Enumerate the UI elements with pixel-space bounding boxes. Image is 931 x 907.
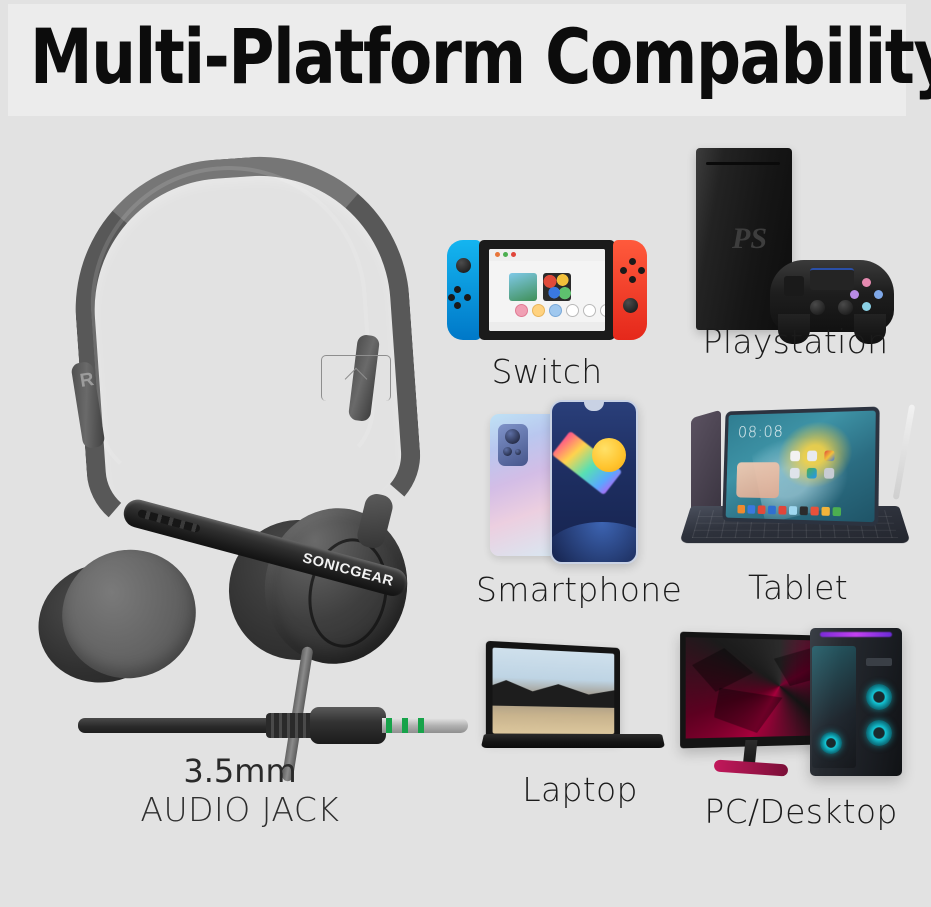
- laptop-screen: [493, 648, 615, 734]
- camera-lens-macro: [515, 449, 521, 455]
- tablet-app-icon-3: [824, 450, 834, 461]
- switch-right-stick: [623, 298, 638, 313]
- device-label-laptop: Laptop: [472, 770, 688, 809]
- tablet-app-icon-5: [807, 468, 817, 479]
- tablet-stylus: [893, 404, 916, 500]
- camera-lens-wide: [503, 447, 512, 456]
- laptop-base: [481, 734, 665, 748]
- controller-dpad: [784, 276, 804, 296]
- switch-dock-icon-5: [583, 304, 596, 317]
- controller-button-cross: [862, 302, 871, 311]
- tablet-app-grid: [790, 450, 836, 478]
- switch-dpad-down: [454, 302, 461, 309]
- controller-touchpad: [810, 268, 854, 290]
- tablet-widget-card: [736, 462, 779, 498]
- page-title: Multi-Platform Compability: [30, 14, 830, 100]
- tablet-dock-icon-8: [810, 507, 818, 516]
- tablet-dock-icon-5: [778, 506, 786, 515]
- headset-earcup-left: [38, 550, 198, 692]
- device-switch: Switch: [447, 240, 647, 340]
- switch-dpad-up: [454, 286, 461, 293]
- tablet-dock-icon-9: [821, 507, 829, 516]
- switch-dock-icon-2: [532, 304, 545, 317]
- switch-user-icon-1: [495, 252, 500, 257]
- tablet-dock: [737, 505, 841, 516]
- tablet-dock-icon-3: [758, 505, 766, 514]
- wallpaper-glow: [550, 522, 638, 564]
- device-tablet: 08:08 T: [683, 398, 913, 558]
- tower-rgb-fan-3: [820, 732, 842, 754]
- device-label-playstation: Playstation: [688, 322, 903, 361]
- switch-user-icon-3: [511, 252, 516, 257]
- tablet-app-icon-1: [790, 451, 800, 462]
- controller-stick-right: [838, 300, 853, 315]
- tablet-dock-icon-1: [737, 505, 745, 514]
- laptop-lid: [486, 641, 620, 740]
- headset-product-image: R SONICGEAR: [20, 130, 440, 690]
- device-pc-desktop: PC/Desktop: [686, 628, 916, 783]
- device-label-smartphone: Smartphone: [476, 570, 682, 609]
- switch-joycon-left: [447, 240, 481, 340]
- playstation-logo: PS: [732, 222, 762, 256]
- switch-dock-icon-6: [600, 304, 605, 317]
- switch-bottombar: [489, 322, 605, 331]
- wallpaper-facet-2: [714, 688, 783, 734]
- audio-jack-label: 3.5mm AUDIO JACK: [70, 752, 410, 830]
- tablet-clock: 08:08: [738, 425, 784, 442]
- jack-ring-1: [386, 718, 392, 733]
- smartphone-camera-module: [498, 424, 528, 466]
- wallpaper-sun: [592, 438, 626, 472]
- headset-right-marking: R: [72, 366, 102, 396]
- tablet-dock-icon-10: [833, 507, 842, 516]
- tower-rgb-fan-1: [866, 684, 892, 710]
- tablet-dock-icon-2: [747, 505, 755, 514]
- playstation-disc-slot: [706, 162, 780, 165]
- jack-ring-2: [402, 718, 408, 733]
- jack-label-line2: AUDIO JACK: [70, 790, 410, 830]
- switch-dock-icon-3: [549, 304, 562, 317]
- tablet-app-icon-4: [790, 468, 800, 479]
- switch-dpad-left: [448, 294, 455, 301]
- wallpaper-facet-1: [692, 647, 753, 691]
- controller-button-square: [850, 290, 859, 299]
- device-label-tablet: Tablet: [683, 568, 913, 607]
- switch-screen: [489, 249, 605, 331]
- camera-lens-main: [505, 429, 520, 444]
- laptop-wallpaper-mountains: [493, 676, 615, 708]
- jack-metal-pin: [382, 718, 468, 733]
- switch-button-y: [620, 267, 627, 274]
- tablet-dock-icon-6: [789, 506, 797, 515]
- smartphone-notch: [584, 402, 604, 411]
- switch-statusbar: [489, 249, 605, 261]
- device-label-pc-desktop: PC/Desktop: [681, 792, 921, 831]
- controller-button-triangle: [862, 278, 871, 287]
- switch-joycon-right: [613, 240, 647, 340]
- pc-tower-case: [810, 628, 902, 776]
- switch-dock-icon-4: [566, 304, 579, 317]
- device-label-switch: Switch: [447, 352, 647, 391]
- chevron-up-glyph: [345, 368, 368, 391]
- monitor-stand-foot: [714, 759, 789, 776]
- switch-button-b: [629, 276, 636, 283]
- jack-ring-3: [418, 718, 424, 733]
- controller-button-circle: [874, 290, 883, 299]
- tower-rgb-fan-2: [866, 720, 892, 746]
- jack-label-line1: 3.5mm: [70, 752, 410, 790]
- tower-front-badge: [866, 658, 892, 666]
- switch-game-tile-1: [509, 273, 537, 301]
- tablet-app-icon-2: [807, 451, 817, 462]
- tablet-app-icon-6: [824, 468, 834, 479]
- chevron-up-icon: [321, 355, 391, 401]
- switch-left-stick: [456, 258, 471, 273]
- tower-rgb-strip: [820, 632, 892, 637]
- switch-game-tile-2: [543, 273, 571, 301]
- tablet-dock-icon-7: [800, 506, 808, 515]
- switch-dock-icon-1: [515, 304, 528, 317]
- smartphone-front-view: [550, 400, 638, 564]
- audio-jack-image: 3.5mm AUDIO JACK: [70, 700, 410, 830]
- jack-cable: [78, 718, 278, 733]
- tablet-dock-icon-4: [768, 506, 776, 515]
- switch-button-a: [638, 267, 645, 274]
- switch-dpad-right: [464, 294, 471, 301]
- controller-stick-left: [810, 300, 825, 315]
- switch-button-x: [629, 258, 636, 265]
- product-infographic: Multi-Platform Compability R SONICGEAR: [0, 0, 931, 907]
- tablet-screen: 08:08: [722, 407, 879, 527]
- switch-dock-row: [515, 304, 605, 317]
- device-laptop: Laptop: [480, 648, 680, 768]
- device-playstation: PS Playstation: [688, 148, 903, 338]
- switch-user-icon-2: [503, 252, 508, 257]
- device-smartphone: Smartphone: [484, 400, 674, 560]
- jack-housing: [310, 707, 386, 744]
